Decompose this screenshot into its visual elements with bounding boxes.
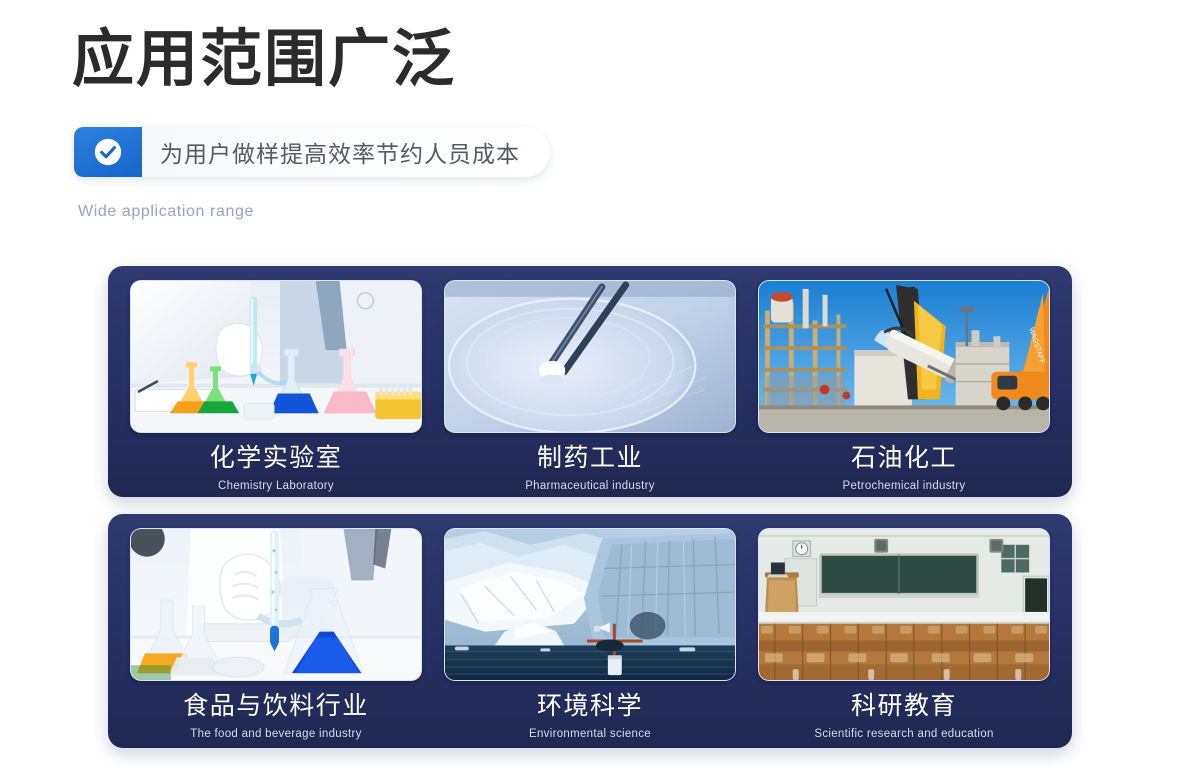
card-subtitle: Chemistry Laboratory <box>218 480 334 492</box>
card-subtitle: Environmental science <box>529 728 651 740</box>
application-card[interactable]: 科研教育 Scientific research and education <box>758 528 1050 748</box>
card-title: 环境科学 <box>537 694 643 719</box>
card-title: 科研教育 <box>851 694 957 719</box>
application-card[interactable]: 制药工业 Pharmaceutical industry <box>444 280 736 497</box>
card-subtitle: Scientific research and education <box>814 728 993 740</box>
petri-dish-tweezers-tablet-photo <box>444 280 736 433</box>
gloved-hand-pipette-blue-flask-photo <box>130 528 422 681</box>
card-subtitle: Petrochemical industry <box>843 480 966 492</box>
card-list-row-2: 食品与饮料行业 The food and beverage industry <box>108 514 1072 748</box>
card-title: 化学实验室 <box>210 446 343 471</box>
pill-text: 为用户做样提高效率节约人员成本 <box>142 127 550 177</box>
lecture-hall-chalkboard-seats-photo <box>758 528 1050 681</box>
card-subtitle: Pharmaceutical industry <box>525 480 655 492</box>
petrochemical-plant-crane-photo: WAGSTAFF <box>758 280 1050 433</box>
card-title: 制药工业 <box>537 446 643 471</box>
chemistry-lab-flasks-photo <box>130 280 422 433</box>
card-list-row-1: 化学实验室 Chemistry Laboratory <box>108 266 1072 497</box>
card-title: 食品与饮料行业 <box>183 694 369 719</box>
card-title: 石油化工 <box>851 446 957 471</box>
glacier-ice-cliff-buoy-photo <box>444 528 736 681</box>
application-card[interactable]: 环境科学 Environmental science <box>444 528 736 748</box>
page-subtitle-english: Wide application range <box>78 203 254 221</box>
page-header: 应用范围广泛 为用户做样提高效率节约人员成本 Wide application … <box>0 0 1200 248</box>
card-subtitle: The food and beverage industry <box>190 728 361 740</box>
application-card[interactable]: 食品与饮料行业 The food and beverage industry <box>130 528 422 748</box>
highlight-pill: 为用户做样提高效率节约人员成本 <box>74 127 550 177</box>
application-panel-row-1: 化学实验室 Chemistry Laboratory <box>108 266 1072 497</box>
check-circle-icon <box>74 127 142 177</box>
application-card[interactable]: 化学实验室 Chemistry Laboratory <box>130 280 422 497</box>
page-title: 应用范围广泛 <box>72 28 456 90</box>
application-panel-row-2: 食品与饮料行业 The food and beverage industry <box>108 514 1072 748</box>
application-card[interactable]: WAGSTAFF 石油化工 Petrochemical industry <box>758 280 1050 497</box>
